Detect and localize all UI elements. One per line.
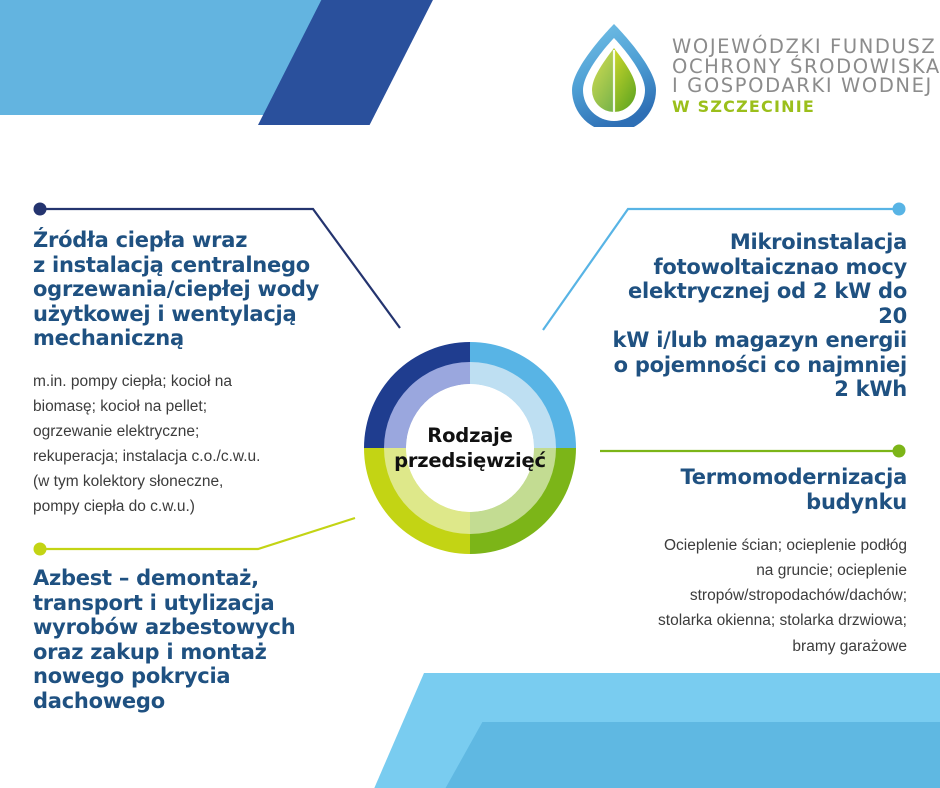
category-body-heat-sources: m.in. pompy ciepła; kocioł na biomasę; k… xyxy=(33,369,333,520)
category-block-thermomodernisation: Termomodernizacja budynku Ocieplenie ści… xyxy=(580,465,907,659)
connector-dot-heat xyxy=(34,203,47,216)
donut-center-line-1: Rodzaje xyxy=(427,423,512,448)
connector-line-asbestos xyxy=(40,518,355,549)
category-heading-thermomodernisation: Termomodernizacja budynku xyxy=(580,465,907,514)
connector-dot-asbestos xyxy=(34,543,47,556)
infographic-canvas: WOJEWÓDZKI FUNDUSZ OCHRONY ŚRODOWISKA I … xyxy=(0,0,940,788)
category-block-heat-sources: Źródła ciepła wraz z instalacją centraln… xyxy=(33,228,333,519)
category-block-asbestos: Azbest – demontaż, transport i utylizacj… xyxy=(33,566,333,713)
donut-center-line-2: przedsięwzięć xyxy=(394,448,546,473)
category-body-thermomodernisation: Ocieplenie ścian; ocieplenie podłóg na g… xyxy=(580,533,907,659)
category-heading-photovoltaics: Mikroinstalacja fotowoltaicznao mocy ele… xyxy=(604,230,907,402)
connector-dot-pv xyxy=(893,203,906,216)
category-heading-heat-sources: Źródła ciepła wraz z instalacją centraln… xyxy=(33,228,333,351)
donut-center-label: Rodzaje przedsięwzięć xyxy=(342,320,598,576)
category-heading-asbestos: Azbest – demontaż, transport i utylizacj… xyxy=(33,566,333,713)
connector-dot-thermo xyxy=(893,445,906,458)
category-block-photovoltaics: Mikroinstalacja fotowoltaicznao mocy ele… xyxy=(604,230,907,402)
